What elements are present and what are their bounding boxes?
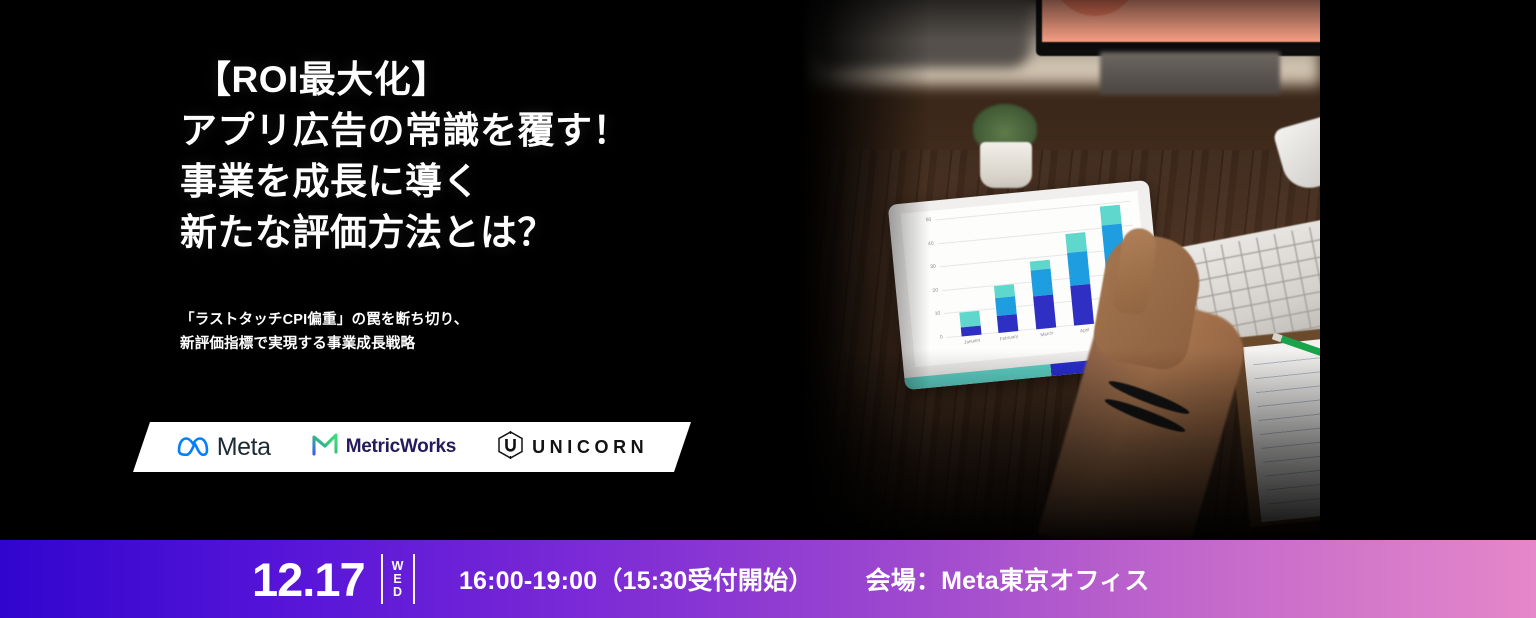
- event-day-of-week: W E D: [381, 554, 415, 604]
- chart-y-tick-label: 30: [930, 264, 936, 271]
- sponsor-logo-bar: Meta MetricWorks: [133, 422, 691, 472]
- dow-letter-e: E: [393, 573, 402, 586]
- event-time: 16:00-19:00（15:30受付開始）: [459, 561, 814, 597]
- chart-bar-segment: [1070, 284, 1094, 326]
- event-info-bar: 12.17 W E D 16:00-19:00（15:30受付開始） 会場：Me…: [0, 540, 1536, 618]
- headline: 【ROI最大化】 アプリ広告の常識を覆す！ 事業を成長に導く 新たな評価方法とは…: [180, 54, 630, 258]
- desktop-monitor: [1036, 0, 1320, 56]
- dow-letter-d: D: [393, 586, 403, 599]
- logo-unicorn: UNICORN: [496, 430, 648, 465]
- logo-meta: Meta: [176, 433, 271, 462]
- headline-line-2: アプリ広告の常識を覆す！: [180, 105, 630, 156]
- chart-bar-group: March: [1025, 210, 1056, 329]
- logo-meta-label: Meta: [217, 433, 271, 462]
- headline-line-4: 新たな評価方法とは？: [180, 207, 630, 258]
- chart-x-tick-label: March: [1040, 330, 1053, 337]
- monitor-stand: [1100, 52, 1280, 94]
- event-banner: 01020304050JanuaryFebruaryMarchAprilMay …: [0, 0, 1536, 618]
- meta-infinity-icon: [176, 434, 210, 461]
- chart-bar-segment: [1100, 205, 1122, 226]
- logo-metricworks-label: MetricWorks: [346, 436, 456, 458]
- headline-line-3: 事業を成長に導く: [180, 156, 630, 207]
- monitor-screen: [1042, 0, 1320, 42]
- notepad-lines: [1253, 348, 1320, 517]
- desk-surface: 01020304050JanuaryFebruaryMarchAprilMay: [800, 0, 1320, 540]
- chart-x-tick-label: January: [963, 337, 980, 345]
- logo-unicorn-label: UNICORN: [532, 437, 648, 458]
- event-venue: 会場：Meta東京オフィス: [866, 561, 1150, 597]
- chart-x-tick-label: April: [1079, 327, 1089, 333]
- chart-bar-segment: [1067, 251, 1090, 286]
- pillow: [810, 0, 1030, 68]
- chart-y-tick-label: 40: [928, 240, 934, 247]
- plant-pot: [980, 142, 1032, 188]
- chart-bar-segment: [1031, 269, 1053, 297]
- chart-y-tick-label: 0: [940, 334, 943, 340]
- chart-bar-segment: [961, 325, 982, 336]
- subtitle-line-2: 新評価指標で実現する事業成長戦略: [180, 332, 469, 356]
- unicorn-hexagon-icon: [496, 430, 525, 465]
- metricworks-m-icon: [311, 432, 339, 463]
- hero-photo: 01020304050JanuaryFebruaryMarchAprilMay: [800, 0, 1320, 540]
- chart-bar-group: April: [1062, 206, 1093, 325]
- event-date-block: 12.17 W E D: [252, 554, 415, 604]
- dow-letter-w: W: [392, 560, 404, 573]
- event-date: 12.17: [252, 556, 365, 603]
- subtitle: 「ラストタッチCPI偏重」の罠を断ち切り、 新評価指標で実現する事業成長戦略: [180, 308, 469, 356]
- chart-bar-segment: [1033, 295, 1056, 330]
- chart-x-tick-label: February: [1000, 333, 1019, 341]
- chart-bar-segment: [1065, 232, 1087, 253]
- monitor-circle-graphic: [1052, 0, 1138, 16]
- chart-y-tick-label: 50: [925, 217, 931, 224]
- subtitle-line-1: 「ラストタッチCPI偏重」の罠を断ち切り、: [180, 308, 469, 332]
- chart-bar-segment: [995, 296, 1017, 317]
- chart-y-tick-label: 20: [932, 287, 938, 294]
- chart-y-tick-label: 10: [935, 311, 941, 318]
- chart-bar-segment: [997, 315, 1018, 333]
- headline-line-1: 【ROI最大化】: [194, 54, 630, 105]
- chart-bar-group: January: [950, 217, 981, 336]
- logo-metricworks: MetricWorks: [311, 432, 456, 463]
- chart-bar-group: February: [988, 214, 1019, 333]
